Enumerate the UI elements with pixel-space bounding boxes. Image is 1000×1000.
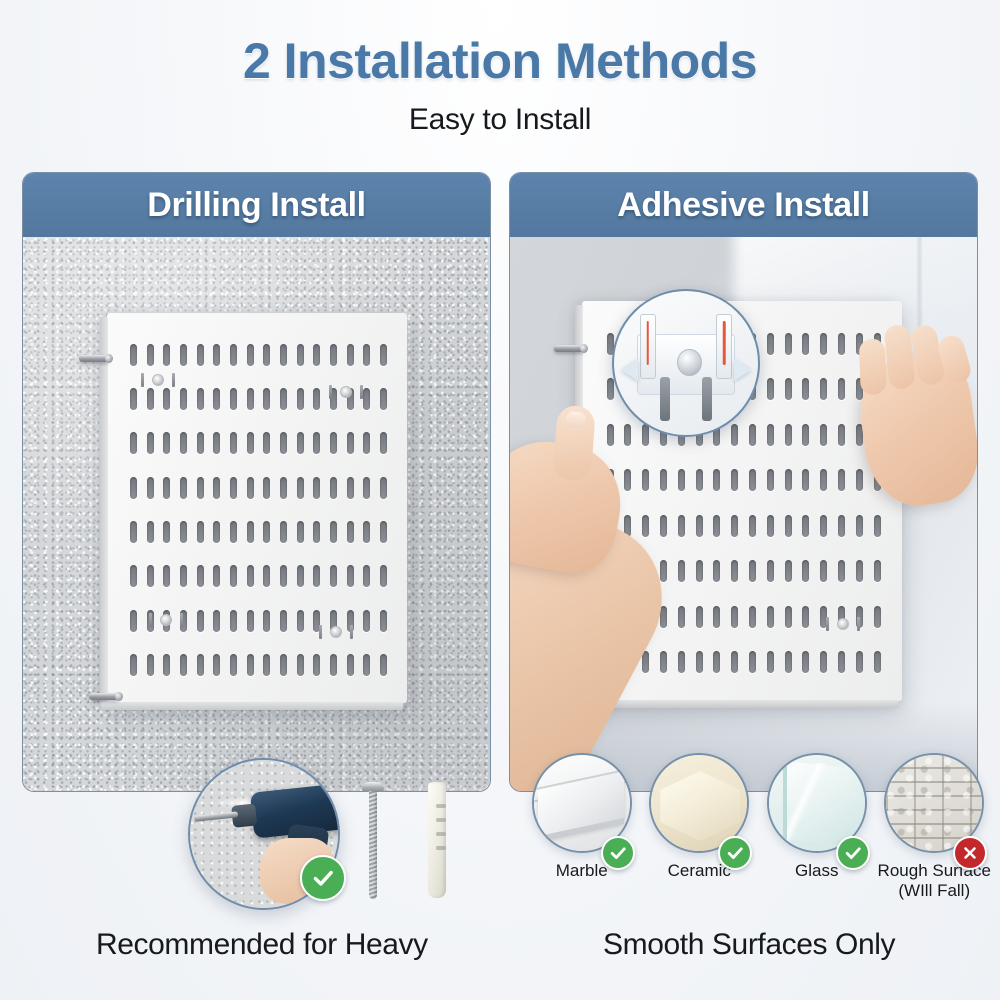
method-panels: Drilling Install bbox=[22, 172, 978, 792]
pegboard-slot bbox=[749, 469, 756, 491]
pegboard-slot bbox=[380, 477, 387, 499]
surface-swatch-marble: Marble bbox=[523, 753, 641, 900]
pegboard-slot bbox=[731, 651, 738, 673]
pegboard-slot bbox=[802, 378, 809, 400]
pegboard-slot bbox=[147, 565, 154, 587]
pegboard-slot bbox=[180, 432, 187, 454]
pegboard-slot bbox=[280, 521, 287, 543]
wall-screw-bottom bbox=[89, 693, 119, 700]
pegboard-slot bbox=[213, 432, 220, 454]
pegboard-slot bbox=[767, 333, 774, 355]
bracket-leg-left bbox=[660, 377, 670, 420]
pegboard-slot bbox=[678, 515, 685, 537]
mount-bracket-top-right bbox=[329, 385, 363, 399]
pegboard-slot bbox=[363, 388, 370, 410]
pegboard-slot bbox=[180, 521, 187, 543]
surface-label-note: (WIll Fall) bbox=[876, 881, 994, 901]
pegboard-slot bbox=[363, 565, 370, 587]
pegboard-slot bbox=[147, 344, 154, 366]
pegboard-slot bbox=[731, 469, 738, 491]
pegboard-slot bbox=[380, 654, 387, 676]
pegboard-slot bbox=[363, 610, 370, 632]
bracket-clip-left bbox=[149, 613, 152, 627]
pegboard-slot bbox=[820, 515, 827, 537]
pegboard-slot bbox=[280, 432, 287, 454]
pegboard-slot bbox=[197, 388, 204, 410]
pegboard-slot bbox=[230, 344, 237, 366]
pegboard-slot bbox=[660, 560, 667, 582]
bracket-pull-tab-right bbox=[716, 314, 732, 379]
surface-compatibility-list: MarbleCeramicGlassRough Surface(WIll Fal… bbox=[523, 753, 993, 900]
pegboard-slot bbox=[180, 565, 187, 587]
pegboard-slot bbox=[802, 606, 809, 628]
pegboard-slot bbox=[130, 477, 137, 499]
pegboard-slot bbox=[660, 469, 667, 491]
pegboard-slot bbox=[330, 477, 337, 499]
screw-shaft bbox=[369, 791, 377, 899]
pegboard-left-edge bbox=[100, 317, 108, 708]
pegboard-slot bbox=[297, 654, 304, 676]
pegboard-slot bbox=[838, 424, 845, 446]
pegboard-slot bbox=[642, 469, 649, 491]
pegboard-slot bbox=[785, 424, 792, 446]
pegboard-slot bbox=[313, 344, 320, 366]
pegboard-slot bbox=[280, 344, 287, 366]
pegboard-slot bbox=[767, 378, 774, 400]
pegboard-slot bbox=[213, 610, 220, 632]
pegboard-slot bbox=[660, 515, 667, 537]
pegboard-slot bbox=[130, 344, 137, 366]
anchor-rib bbox=[436, 804, 446, 808]
pegboard-slot bbox=[820, 424, 827, 446]
pegboard-slot bbox=[820, 333, 827, 355]
pegboard-slot bbox=[696, 606, 703, 628]
pegboard-slot bbox=[838, 560, 845, 582]
pegboard-slot bbox=[749, 560, 756, 582]
pegboard-slot bbox=[280, 388, 287, 410]
pegboard-slot bbox=[820, 651, 827, 673]
pegboard-slot bbox=[213, 654, 220, 676]
arrow-right-icon bbox=[734, 359, 751, 381]
pegboard-slot bbox=[785, 515, 792, 537]
pegboard-slot bbox=[696, 651, 703, 673]
pegboard-slot bbox=[767, 515, 774, 537]
pegboard-slot bbox=[247, 477, 254, 499]
bracket-clip-right bbox=[350, 625, 353, 639]
surface-swatch-ceramic: Ceramic bbox=[641, 753, 759, 900]
pegboard-slot bbox=[313, 521, 320, 543]
pegboard-slot bbox=[363, 521, 370, 543]
surface-check-badge bbox=[601, 836, 635, 870]
pegboard-slot bbox=[147, 432, 154, 454]
pegboard-slot bbox=[247, 521, 254, 543]
pegboard-slot bbox=[363, 654, 370, 676]
pegboard-slot bbox=[731, 560, 738, 582]
pegboard-slot bbox=[749, 515, 756, 537]
pegboard-slot bbox=[247, 654, 254, 676]
pegboard-slot bbox=[380, 610, 387, 632]
pegboard-slot bbox=[130, 654, 137, 676]
pegboard-slot bbox=[263, 521, 270, 543]
mount-bracket-bottom-right bbox=[319, 625, 353, 639]
bracket-clip-left bbox=[141, 373, 144, 387]
panel-adhesive-install: Adhesive Install bbox=[509, 172, 978, 792]
finger bbox=[859, 338, 887, 395]
pegboard-slot bbox=[280, 477, 287, 499]
pegboard-slot bbox=[749, 606, 756, 628]
pegboard-slot bbox=[147, 654, 154, 676]
pegboard-slot bbox=[313, 565, 320, 587]
pegboard-slot bbox=[785, 378, 792, 400]
pegboard-slot bbox=[280, 565, 287, 587]
pegboard-slot bbox=[380, 432, 387, 454]
pegboard-slot bbox=[838, 515, 845, 537]
bracket-center-hub bbox=[677, 349, 701, 376]
pegboard-slot bbox=[330, 344, 337, 366]
pegboard-slot bbox=[147, 388, 154, 410]
pegboard-slot bbox=[197, 654, 204, 676]
pegboard-slot bbox=[163, 477, 170, 499]
pegboard-slot bbox=[247, 388, 254, 410]
panel-adhesive-header-label: Adhesive Install bbox=[617, 186, 869, 225]
bracket-hub-icon bbox=[152, 374, 164, 386]
pegboard-slot bbox=[838, 378, 845, 400]
pegboard-slot bbox=[802, 333, 809, 355]
pegboard-slot bbox=[180, 388, 187, 410]
pegboard-slot bbox=[678, 469, 685, 491]
pegboard-slot bbox=[347, 521, 354, 543]
pegboard-slot bbox=[713, 651, 720, 673]
glass-shine bbox=[787, 763, 847, 845]
pegboard-slot bbox=[363, 477, 370, 499]
pegboard-slot bbox=[297, 344, 304, 366]
pegboard-slot bbox=[380, 565, 387, 587]
pegboard-slot bbox=[313, 432, 320, 454]
pegboard-slot bbox=[163, 521, 170, 543]
wall-anchor-icon bbox=[426, 782, 448, 898]
marble-slab bbox=[538, 772, 624, 836]
page-subtitle: Easy to Install bbox=[0, 103, 1000, 137]
adhesive-bracket-illustration bbox=[614, 291, 758, 435]
pegboard-slot bbox=[313, 654, 320, 676]
pegboard-slot bbox=[802, 560, 809, 582]
pegboard-slot bbox=[856, 651, 863, 673]
pegboard-slot bbox=[263, 610, 270, 632]
pegboard-slot bbox=[130, 432, 137, 454]
pegboard-slot bbox=[213, 521, 220, 543]
pegboard-slot bbox=[263, 477, 270, 499]
pegboard-slot bbox=[767, 424, 774, 446]
anchor-rib bbox=[436, 846, 446, 850]
pegboard-slot bbox=[785, 469, 792, 491]
pegboard-slot bbox=[713, 469, 720, 491]
pegboard-slot bbox=[213, 477, 220, 499]
bracket-clip-left bbox=[329, 385, 332, 399]
anchor-rib bbox=[436, 832, 446, 836]
wall-screw-top bbox=[79, 355, 109, 362]
arrow-left-icon bbox=[621, 359, 638, 381]
pegboard-slot bbox=[802, 651, 809, 673]
pegboard-slot bbox=[130, 610, 137, 632]
pegboard-slot bbox=[230, 477, 237, 499]
pegboard-slot bbox=[263, 344, 270, 366]
pegboard-slot bbox=[785, 651, 792, 673]
pegboard-slot bbox=[678, 651, 685, 673]
pegboard-panel bbox=[107, 313, 407, 703]
pegboard-slot bbox=[297, 521, 304, 543]
pegboard-slot bbox=[874, 606, 881, 628]
pegboard-slot bbox=[130, 388, 137, 410]
pegboard-slot bbox=[380, 521, 387, 543]
pegboard-slot bbox=[347, 432, 354, 454]
pegboard-slot bbox=[347, 654, 354, 676]
pegboard-slot bbox=[247, 432, 254, 454]
pegboard-slot bbox=[731, 515, 738, 537]
pegboard-slot bbox=[180, 477, 187, 499]
pegboard-slot bbox=[130, 521, 137, 543]
pegboard-slot bbox=[330, 654, 337, 676]
pegboard-slot bbox=[856, 560, 863, 582]
bracket-clip-right bbox=[857, 617, 860, 631]
pegboard-slot bbox=[163, 388, 170, 410]
pegboard-slot bbox=[785, 333, 792, 355]
pegboard-slot bbox=[263, 654, 270, 676]
pegboard-slot bbox=[380, 388, 387, 410]
pegboard-slot bbox=[347, 344, 354, 366]
pegboard-slot bbox=[696, 515, 703, 537]
pegboard-slot bbox=[247, 565, 254, 587]
pegboard-slot bbox=[713, 515, 720, 537]
bracket-leg-right bbox=[702, 377, 712, 420]
mount-bracket-bottom-right bbox=[826, 617, 860, 631]
pegboard-slot bbox=[213, 344, 220, 366]
pegboard-slot bbox=[874, 515, 881, 537]
pegboard-slot bbox=[180, 654, 187, 676]
pegboard-slot bbox=[330, 565, 337, 587]
pegboard-slot bbox=[607, 378, 614, 400]
screw-icon bbox=[362, 782, 384, 900]
pegboard-slot bbox=[163, 344, 170, 366]
pegboard-slot bbox=[197, 565, 204, 587]
pegboard-slot bbox=[363, 432, 370, 454]
pegboard-slot bbox=[785, 560, 792, 582]
pegboard-slot bbox=[607, 424, 614, 446]
pegboard-slot bbox=[624, 469, 631, 491]
pegboard-slot bbox=[180, 344, 187, 366]
pegboard-slot bbox=[197, 521, 204, 543]
mount-bracket-bottom-left bbox=[149, 613, 183, 627]
wall-screw-top bbox=[554, 345, 584, 352]
pegboard-slot bbox=[263, 432, 270, 454]
pegboard-slot bbox=[330, 521, 337, 543]
surface-swatch-rough-surface: Rough Surface(WIll Fall) bbox=[876, 753, 994, 900]
adhesive-bracket-zoom-circle bbox=[612, 289, 760, 437]
bracket-pull-tab-left bbox=[640, 314, 656, 379]
pegboard-slot bbox=[820, 378, 827, 400]
pegboard-slot bbox=[280, 610, 287, 632]
pegboard-slot bbox=[820, 560, 827, 582]
pegboard-slot bbox=[767, 606, 774, 628]
pegboard-slot bbox=[230, 565, 237, 587]
pegboard-slot bbox=[767, 560, 774, 582]
page-title: 2 Installation Methods bbox=[0, 32, 1000, 90]
pegboard-slot bbox=[197, 477, 204, 499]
pegboard-slot bbox=[213, 565, 220, 587]
surface-check-badge bbox=[718, 836, 752, 870]
pegboard-slot bbox=[856, 515, 863, 537]
bracket-hub-icon bbox=[330, 626, 342, 638]
pegboard-slot bbox=[838, 333, 845, 355]
surface-cross-badge bbox=[953, 836, 987, 870]
pegboard-slot bbox=[213, 388, 220, 410]
pegboard-slot bbox=[263, 388, 270, 410]
bracket-hub-icon bbox=[160, 614, 172, 626]
pegboard-slot bbox=[163, 654, 170, 676]
pegboard-slot bbox=[802, 515, 809, 537]
mount-bracket-top-left bbox=[141, 373, 175, 387]
pegboard-slot bbox=[197, 432, 204, 454]
pegboard-slot bbox=[767, 469, 774, 491]
bottom-zone: MarbleCeramicGlassRough Surface(WIll Fal… bbox=[0, 700, 1000, 1000]
pegboard-slot bbox=[263, 565, 270, 587]
pegboard-slot bbox=[713, 606, 720, 628]
panel-drilling-install: Drilling Install bbox=[22, 172, 491, 792]
pegboard-slot bbox=[230, 388, 237, 410]
pegboard-slot bbox=[696, 560, 703, 582]
pegboard-slot bbox=[347, 477, 354, 499]
pegboard-slot bbox=[642, 515, 649, 537]
surface-swatch-glass: Glass bbox=[758, 753, 876, 900]
pegboard-slot bbox=[731, 606, 738, 628]
pegboard-slot bbox=[247, 344, 254, 366]
panel-drilling-header-label: Drilling Install bbox=[147, 186, 365, 225]
pegboard-slot bbox=[874, 651, 881, 673]
pegboard-slot bbox=[313, 477, 320, 499]
pegboard-slot bbox=[678, 560, 685, 582]
pegboard-slot bbox=[874, 560, 881, 582]
pegboard-slot bbox=[380, 344, 387, 366]
pegboard-slot bbox=[297, 565, 304, 587]
pegboard-slot bbox=[347, 565, 354, 587]
pegboard-slot bbox=[856, 469, 863, 491]
pegboard-slot bbox=[660, 651, 667, 673]
caption-drilling: Recommended for Heavy bbox=[96, 928, 428, 962]
panel-drilling-header: Drilling Install bbox=[23, 173, 490, 237]
pegboard-slot bbox=[838, 651, 845, 673]
pegboard-slot bbox=[297, 477, 304, 499]
pegboard-slot bbox=[785, 606, 792, 628]
pegboard-slot bbox=[280, 654, 287, 676]
pegboard-slot bbox=[820, 469, 827, 491]
pegboard-slot bbox=[147, 477, 154, 499]
pegboard-slot bbox=[678, 606, 685, 628]
pegboard-slot bbox=[230, 610, 237, 632]
infographic-page: 2 Installation Methods Easy to Install D… bbox=[0, 0, 1000, 1000]
ceramic-hex-tile bbox=[660, 771, 740, 841]
pegboard-slot bbox=[330, 432, 337, 454]
pegboard-slot bbox=[642, 651, 649, 673]
caption-adhesive: Smooth Surfaces Only bbox=[603, 928, 895, 962]
drilling-check-badge bbox=[300, 855, 346, 901]
panel-adhesive-header: Adhesive Install bbox=[510, 173, 977, 237]
pegboard-slot bbox=[197, 610, 204, 632]
pegboard-slot bbox=[696, 469, 703, 491]
pegboard-slot bbox=[802, 424, 809, 446]
bracket-clip-right bbox=[360, 385, 363, 399]
pegboard-slot bbox=[197, 344, 204, 366]
pegboard-slot bbox=[767, 651, 774, 673]
pegboard-slot bbox=[230, 432, 237, 454]
pegboard-slot bbox=[230, 654, 237, 676]
pegboard-slot bbox=[838, 469, 845, 491]
pegboard-slot bbox=[802, 469, 809, 491]
anchor-body bbox=[428, 782, 446, 898]
anchor-rib bbox=[436, 818, 446, 822]
pegboard-slot bbox=[297, 388, 304, 410]
pegboard-slot bbox=[163, 432, 170, 454]
thumb bbox=[553, 405, 596, 481]
pegboard-slot bbox=[297, 432, 304, 454]
surface-check-badge bbox=[836, 836, 870, 870]
pegboard-slot bbox=[130, 565, 137, 587]
bracket-clip-right bbox=[180, 613, 183, 627]
bracket-hub-icon bbox=[837, 618, 849, 630]
pegboard-slot bbox=[363, 344, 370, 366]
pegboard-slot bbox=[313, 388, 320, 410]
pegboard-slot bbox=[247, 610, 254, 632]
bracket-clip-left bbox=[826, 617, 829, 631]
pegboard-slot bbox=[749, 651, 756, 673]
bracket-clip-right bbox=[172, 373, 175, 387]
pegboard-slot bbox=[147, 521, 154, 543]
bracket-clip-left bbox=[319, 625, 322, 639]
pegboard-slot bbox=[713, 560, 720, 582]
pegboard-slot bbox=[230, 521, 237, 543]
bracket-hub-icon bbox=[340, 386, 352, 398]
pegboard-slot bbox=[297, 610, 304, 632]
pegboard-slot bbox=[163, 565, 170, 587]
